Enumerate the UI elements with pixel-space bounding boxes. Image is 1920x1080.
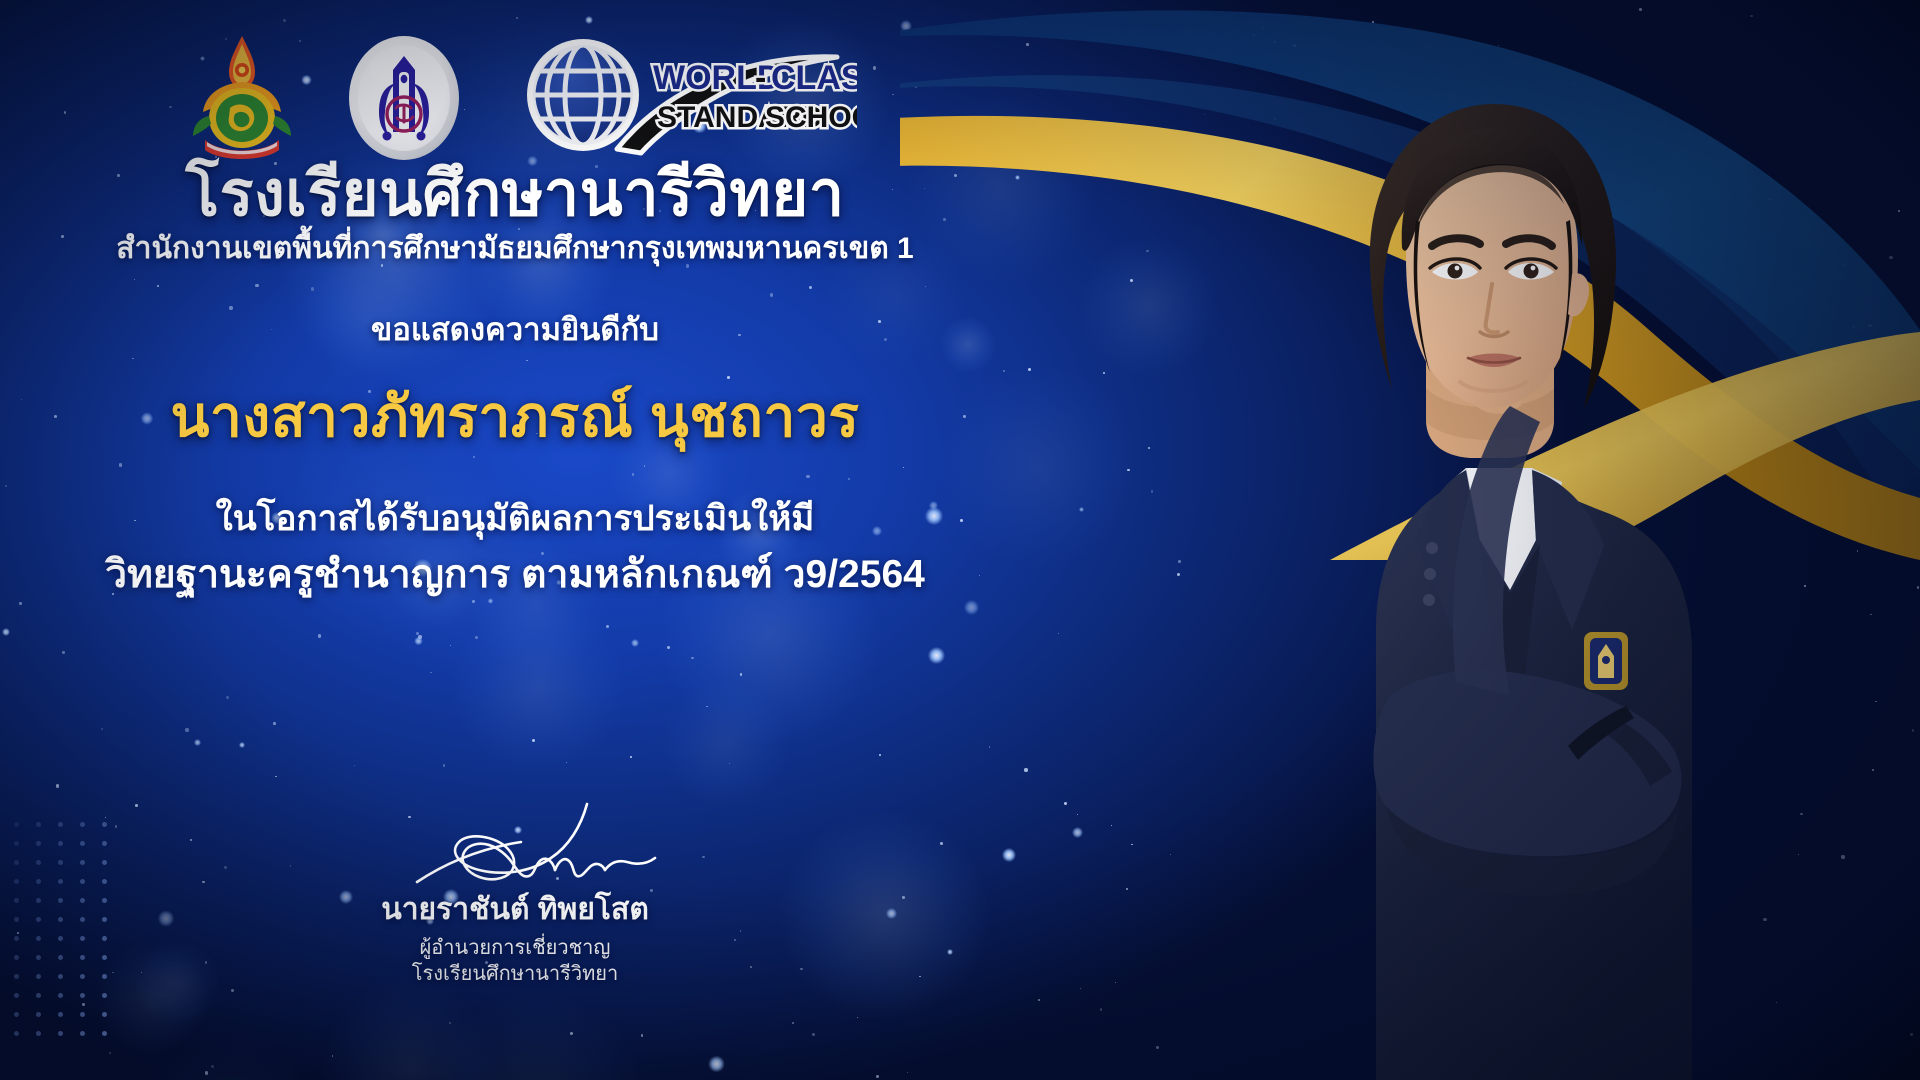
grid-dot (58, 993, 63, 998)
star-dot (1769, 199, 1771, 201)
director-role: ผู้อำนวยการเชี่ยวชาญ (420, 936, 611, 962)
star-dot (1817, 364, 1820, 367)
star-dot (812, 1033, 815, 1036)
grid-dot (36, 993, 41, 998)
star-dot (185, 728, 189, 732)
star-dot (1126, 888, 1128, 890)
school-name: โรงเรียนศึกษานารีวิทยา (0, 160, 1030, 228)
star-dot (641, 1034, 644, 1037)
star-dot (1080, 988, 1081, 989)
sparkle-glow (1079, 507, 1084, 512)
world-class-standard-school-logo: WORLD - CLASS STANDARD SCHOOL (507, 33, 857, 168)
star-dot (566, 762, 567, 763)
certificate-text-block: โรงเรียนศึกษานารีวิทยา สำนักงานเขตพื้นที… (0, 160, 1030, 606)
star-dot (1898, 210, 1899, 211)
star-dot (475, 636, 478, 639)
star-dot (1103, 372, 1106, 375)
sparkle-glow (239, 742, 245, 748)
award-reason-line: ในโอกาสได้รับอนุมัติผลการประเมินให้มี (0, 496, 1030, 542)
star-dot (1178, 560, 1181, 563)
star-dot (1038, 999, 1040, 1001)
star-dot (1888, 426, 1890, 428)
grid-dot (102, 1012, 107, 1017)
ministry-of-education-logo (183, 32, 301, 169)
star-dot (273, 722, 276, 725)
director-name: นายราชันต์ ทิพยโสต (381, 892, 649, 928)
star-dot (449, 1022, 451, 1024)
grid-dot (14, 993, 19, 998)
star-dot (516, 17, 518, 19)
star-dot (1100, 1008, 1102, 1010)
star-dot (630, 756, 632, 758)
star-dot (1058, 633, 1059, 634)
star-dot (989, 746, 991, 748)
director-organization: โรงเรียนศึกษานารีวิทยา (412, 962, 618, 988)
grid-dot (36, 1012, 41, 1017)
star-dot (1912, 729, 1915, 732)
education-office-name: สำนักงานเขตพื้นที่การศึกษามัธยมศึกษากรุง… (0, 232, 1030, 267)
grid-dot (102, 1031, 107, 1036)
star-dot (1798, 854, 1799, 855)
star-dot (1071, 30, 1072, 31)
star-dot (450, 645, 452, 647)
congratulation-label: ขอแสดงความยินดีกับ (0, 311, 1030, 348)
star-dot (1293, 44, 1296, 47)
sparkle-glow (708, 1056, 724, 1072)
star-dot (332, 1055, 333, 1056)
star-dot (62, 651, 64, 653)
star-dot (792, 1022, 794, 1024)
star-dot (1502, 55, 1503, 56)
star-dot (996, 125, 999, 128)
grid-dot (80, 1012, 85, 1017)
logo-row: WORLD - CLASS STANDARD SCHOOL (150, 30, 890, 170)
grid-dot (14, 1012, 19, 1017)
sparkle-glow (1072, 827, 1083, 838)
star-dot (1077, 814, 1078, 815)
star-dot (1064, 802, 1067, 805)
star-dot (56, 784, 59, 787)
star-dot (706, 706, 707, 707)
star-dot (1170, 854, 1171, 855)
star-dot (907, 1072, 908, 1073)
star-dot (1016, 23, 1018, 25)
star-dot (876, 1075, 879, 1078)
star-dot (1111, 825, 1112, 826)
star-dot (892, 94, 893, 95)
star-dot (354, 765, 356, 767)
grid-dot (14, 1031, 19, 1036)
star-dot (1131, 844, 1133, 846)
honoree-name: นางสาวภัทราภรณ์ นุชถาวร (0, 386, 1030, 450)
star-dot (1750, 15, 1752, 17)
bokeh-light (430, 992, 643, 1080)
grid-dot (58, 1031, 63, 1036)
star-dot (1261, 26, 1263, 28)
star-dot (1841, 855, 1845, 859)
star-dot (1498, 45, 1500, 47)
star-dot (1639, 8, 1641, 10)
sparkle-glow (2, 628, 10, 636)
star-dot (1875, 701, 1876, 702)
star-dot (857, 1017, 859, 1019)
star-dot (729, 763, 731, 765)
star-dot (1573, 82, 1575, 84)
certificate-banner: WORLD - CLASS STANDARD SCHOOL โรงเรียนศึ… (0, 0, 1920, 1080)
logo-word-school: SCHOOL (765, 101, 857, 134)
star-dot (318, 634, 321, 637)
star-dot (101, 728, 103, 730)
sparkle-glow (631, 639, 639, 647)
star-dot (1146, 250, 1148, 252)
star-dot (1024, 768, 1028, 772)
star-dot (226, 696, 229, 699)
star-dot (1801, 391, 1804, 394)
star-dot (667, 646, 670, 649)
star-dot (211, 1065, 214, 1068)
grid-dot (102, 993, 107, 998)
star-dot (418, 635, 421, 638)
signature-mark (355, 800, 675, 892)
star-dot (109, 1052, 111, 1054)
star-dot (1763, 918, 1766, 921)
star-dot (740, 673, 742, 675)
star-dot (570, 1032, 573, 1035)
sparkle-glow (414, 637, 423, 646)
star-dot (430, 672, 431, 673)
star-dot (1253, 34, 1255, 36)
star-dot (606, 625, 609, 628)
star-dot (532, 739, 535, 742)
star-dot (915, 86, 917, 88)
ribbon-decoration (900, 0, 1920, 560)
star-dot (1177, 573, 1180, 576)
star-dot (1127, 469, 1129, 471)
star-dot (231, 989, 234, 992)
star-dot (82, 1003, 85, 1006)
award-rank-line: วิทยฐานะครูชำนาญการ ตามหลักเกณฑ์ ว9/2564 (0, 550, 1030, 601)
sparkle-glow (194, 739, 202, 747)
star-dot (1115, 982, 1116, 983)
star-dot (205, 1071, 208, 1074)
star-dot (1804, 585, 1806, 587)
grid-dot (36, 1031, 41, 1036)
grid-dot (80, 993, 85, 998)
logo-word-class: CLASS (771, 59, 857, 97)
star-dot (1274, 41, 1277, 44)
bokeh-light (452, 600, 624, 772)
star-dot (1889, 256, 1892, 259)
star-dot (1274, 118, 1276, 120)
star-dot (1204, 114, 1205, 115)
star-dot (691, 657, 693, 659)
sparkle-glow (585, 16, 593, 24)
star-dot (1917, 586, 1920, 589)
star-dot (1151, 490, 1154, 493)
star-dot (879, 754, 881, 756)
star-dot (1148, 447, 1150, 449)
star-dot (275, 776, 277, 778)
star-dot (1870, 614, 1872, 616)
star-dot (64, 111, 67, 114)
star-dot (1868, 324, 1871, 327)
grid-dot (58, 1012, 63, 1017)
star-dot (443, 764, 445, 766)
bokeh-light (323, 981, 498, 1080)
star-dot (1800, 813, 1803, 816)
star-dot (416, 632, 419, 635)
star-dot (1852, 326, 1855, 329)
star-dot (1826, 486, 1829, 489)
star-dot (283, 19, 286, 22)
teacher-portrait (1180, 70, 1800, 1080)
grid-dot (80, 1031, 85, 1036)
blazer-school-badge (1584, 632, 1628, 690)
star-dot (1872, 769, 1874, 771)
school-emblem-logo (343, 32, 465, 169)
star-dot (1843, 264, 1846, 267)
star-dot (1026, 43, 1029, 46)
logo-word-dash: - (755, 59, 766, 97)
bokeh-light (143, 1034, 316, 1080)
star-dot (1372, 21, 1374, 23)
sparkle-glow (900, 20, 912, 32)
star-dot (1910, 1033, 1914, 1037)
star-dot (1156, 1046, 1159, 1049)
star-dot (1857, 550, 1859, 552)
signature-block: นายราชันต์ ทิพยโสต ผู้อำนวยการเชี่ยวชาญ … (0, 800, 1030, 987)
star-dot (1776, 1002, 1777, 1003)
sparkle-glow (928, 647, 945, 664)
bokeh-light (661, 679, 789, 807)
star-dot (1130, 279, 1133, 282)
bokeh-light (1079, 237, 1218, 376)
